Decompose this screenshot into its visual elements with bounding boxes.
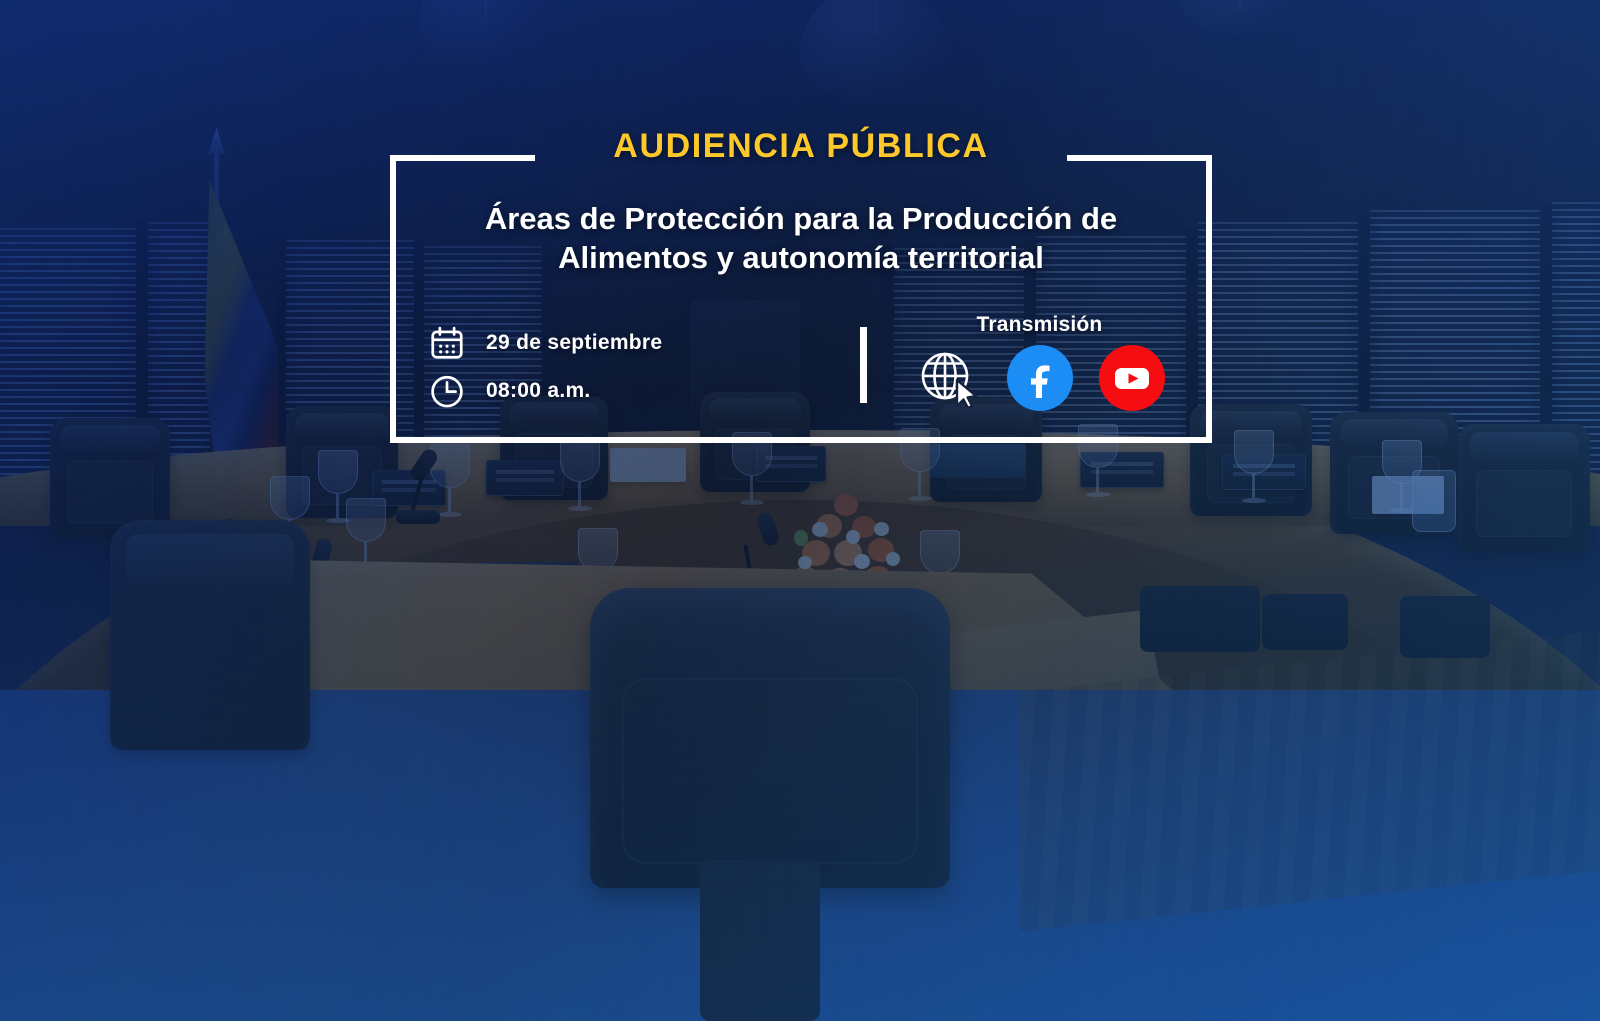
vertical-divider (860, 327, 867, 403)
stream-channel-icons (867, 345, 1212, 411)
event-details: 29 de septiembre 08:00 a.m. (428, 305, 848, 415)
stream-label: Transmisión (867, 313, 1212, 337)
event-kicker: AUDIENCIA PÚBLICA (390, 127, 1212, 166)
event-date-value: 29 de septiembre (486, 331, 662, 355)
youtube-icon[interactable] (1099, 345, 1165, 411)
frame-bottom-border (390, 437, 1212, 443)
event-time-value: 08:00 a.m. (486, 379, 591, 403)
event-date-row: 29 de septiembre (428, 319, 848, 367)
facebook-icon[interactable] (1007, 345, 1073, 411)
headline-line-2: Alimentos y autonomía territorial (430, 238, 1172, 277)
headline-line-1: Áreas de Protección para la Producción d… (430, 199, 1172, 238)
globe-cursor-icon[interactable] (915, 345, 981, 411)
announcement-card: AUDIENCIA PÚBLICA Áreas de Protección pa… (390, 155, 1212, 443)
page-title: Áreas de Protección para la Producción d… (430, 199, 1172, 277)
stream-section: Transmisión (867, 305, 1212, 411)
event-time-row: 08:00 a.m. (428, 367, 848, 415)
calendar-icon (428, 324, 466, 362)
clock-icon (428, 372, 466, 410)
card-body: 29 de septiembre 08:00 a.m. Transmisión (390, 305, 1212, 425)
poster-stage: AUDIENCIA PÚBLICA Áreas de Protección pa… (0, 0, 1600, 1021)
